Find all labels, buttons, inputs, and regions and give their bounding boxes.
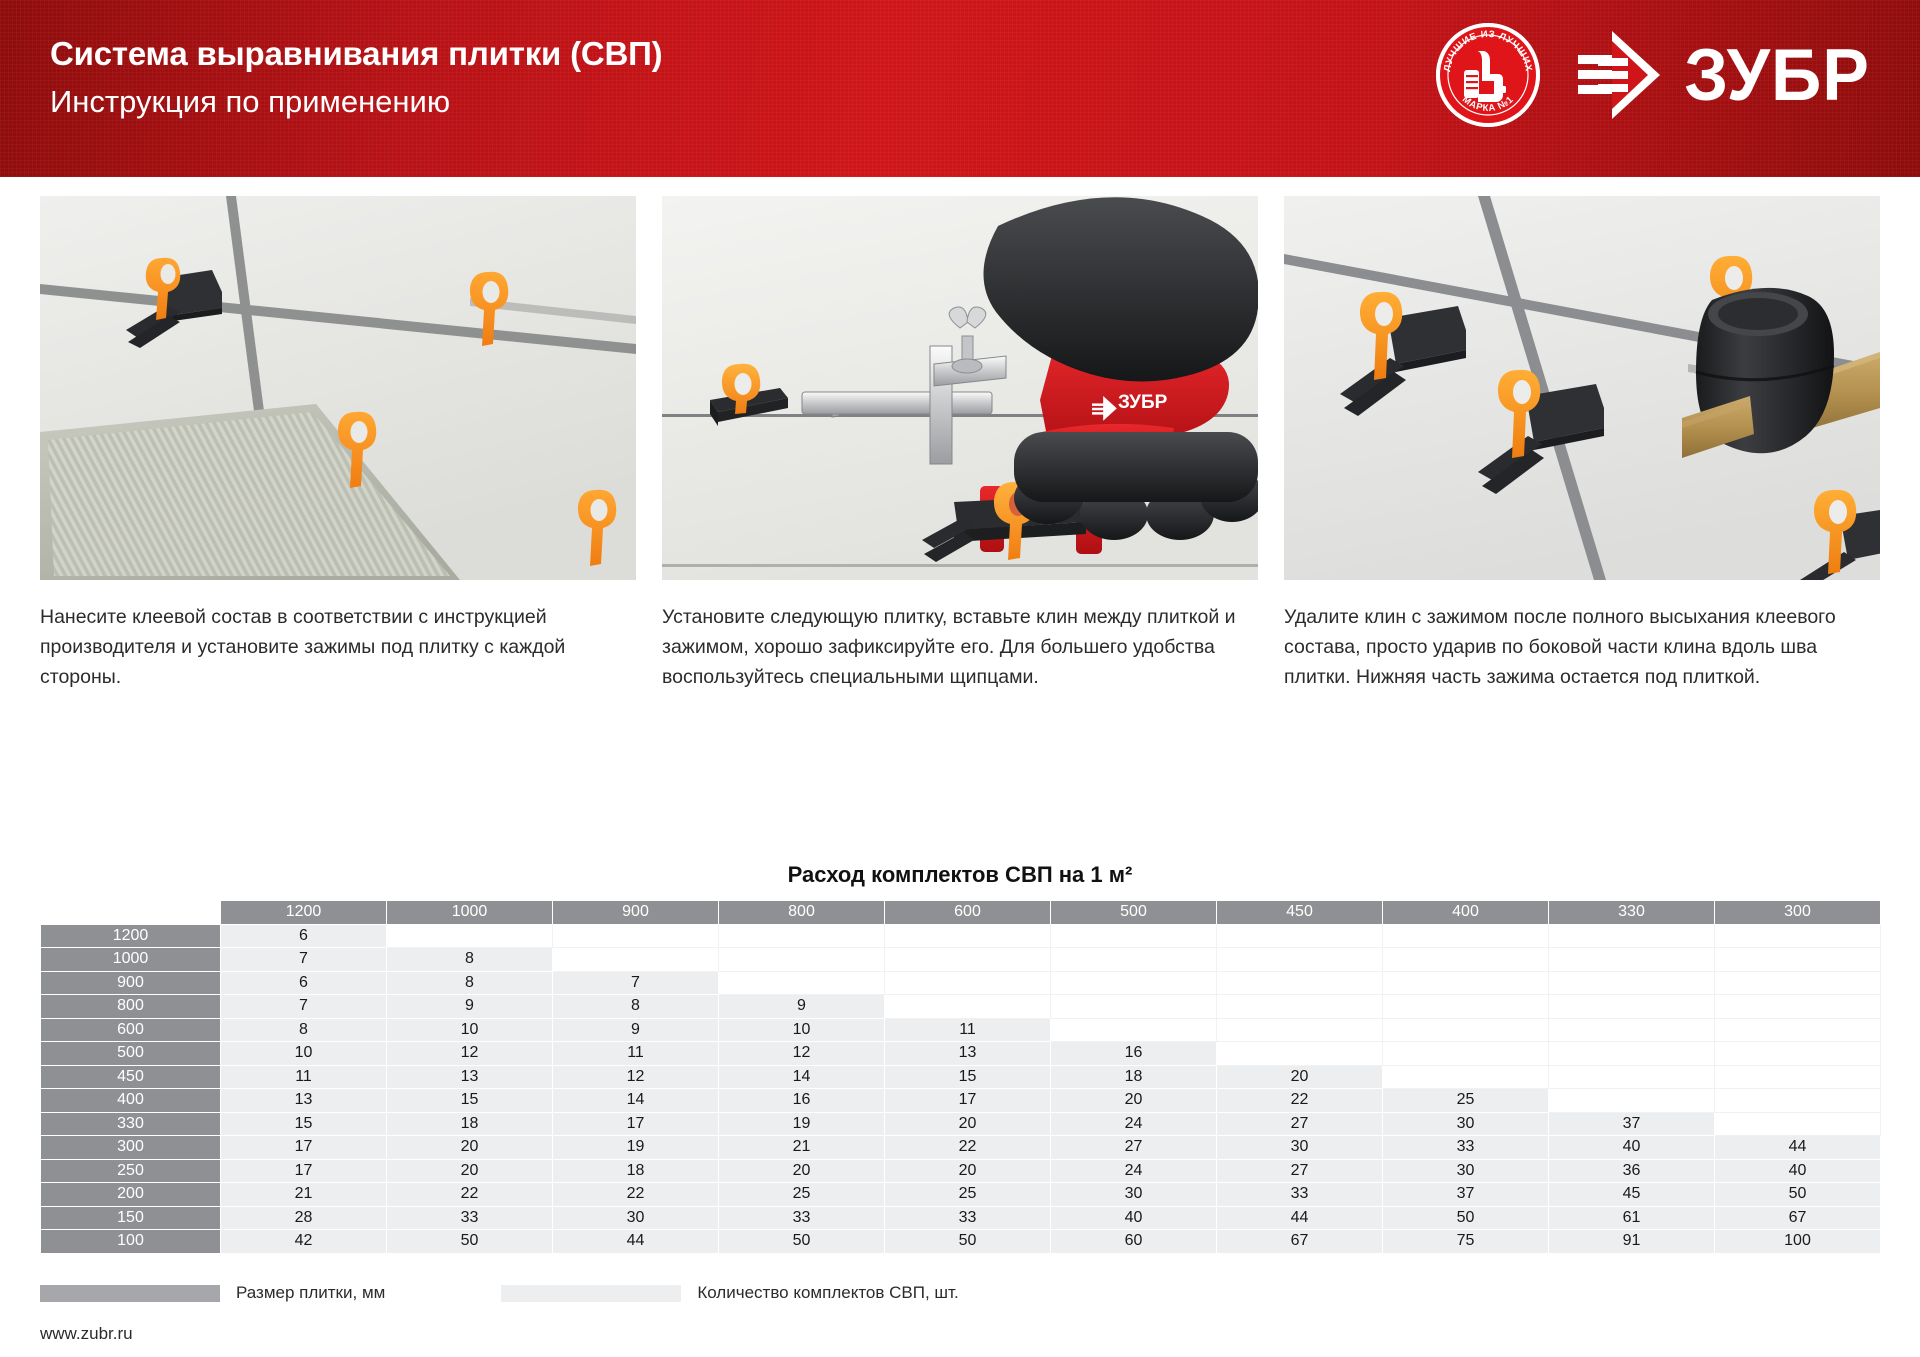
step-2-caption: Установите следующую плитку, вставьте кл… [662,602,1258,692]
table-cell-value: 9 [719,995,885,1019]
table-cell-value: 50 [1715,1183,1881,1207]
table-row: 20021222225253033374550 [41,1183,1881,1207]
table-row-header: 200 [41,1183,221,1207]
table-col-header: 900 [553,901,719,925]
table-col-header: 600 [885,901,1051,925]
table-cell-value: 28 [221,1206,387,1230]
brand-logo: ЗУБР [1578,27,1870,123]
table-row: 100078 [41,948,1881,972]
table-cell-empty [1051,924,1217,948]
table-cell-value: 18 [387,1112,553,1136]
table-cell-value: 33 [1383,1136,1549,1160]
table-cell-value: 36 [1549,1159,1715,1183]
table-cell-value: 12 [387,1042,553,1066]
table-cell-value: 27 [1217,1159,1383,1183]
table-corner-cell [41,901,221,925]
table-cell-empty [1217,1018,1383,1042]
table-cell-value: 20 [1217,1065,1383,1089]
table-cell-value: 37 [1549,1112,1715,1136]
table-cell-empty [1051,948,1217,972]
table-cell-empty [1051,971,1217,995]
page-title: Система выравнивания плитки (СВП) [50,33,662,75]
table-cell-empty [1549,971,1715,995]
table-cell-value: 9 [553,1018,719,1042]
table-row-header: 800 [41,995,221,1019]
table-cell-empty [1549,1089,1715,1113]
legend-label-count: Количество комплектов СВП, шт. [697,1283,958,1303]
legend-item-count: Количество комплектов СВП, шт. [501,1283,958,1303]
table-cell-value: 20 [719,1159,885,1183]
table-cell-value: 7 [221,995,387,1019]
table-row-header: 150 [41,1206,221,1230]
consumption-table: 12001000900800600500450400330300 1200610… [40,900,1881,1254]
table-cell-value: 50 [885,1230,1051,1254]
table-cell-value: 8 [553,995,719,1019]
legend-swatch-size [40,1285,220,1302]
table-row: 12006 [41,924,1881,948]
table-cell-value: 45 [1549,1183,1715,1207]
table-cell-value: 14 [719,1065,885,1089]
table-cell-value: 33 [1217,1183,1383,1207]
table-cell-value: 30 [1383,1159,1549,1183]
table-cell-value: 7 [221,948,387,972]
legend-label-size: Размер плитки, мм [236,1283,385,1303]
step-2-photo-svg: ЗУБР [662,196,1258,580]
step-1-caption: Нанесите клеевой состав в соответствии с… [40,602,636,692]
table-cell-value: 8 [221,1018,387,1042]
table-cell-value: 10 [719,1018,885,1042]
table-cell-value: 40 [1715,1159,1881,1183]
step-3-photo-svg [1284,196,1880,580]
table-cell-empty [1715,948,1881,972]
table-cell-value: 20 [387,1136,553,1160]
table-cell-value: 12 [719,1042,885,1066]
table-cell-empty [553,924,719,948]
table-cell-value: 21 [221,1183,387,1207]
table-cell-value: 30 [1051,1183,1217,1207]
table-cell-value: 16 [1051,1042,1217,1066]
table-cell-value: 25 [719,1183,885,1207]
table-cell-empty [1383,1018,1549,1042]
table-cell-value: 44 [553,1230,719,1254]
table-cell-value: 11 [221,1065,387,1089]
step-3-photo [1284,196,1880,580]
table-cell-value: 44 [1217,1206,1383,1230]
table-col-header: 1000 [387,901,553,925]
quality-badge: ЛУЧШИЕ ИЗ ЛУЧШИХ МАРКА №1 [1436,23,1540,127]
table-cell-value: 30 [1217,1136,1383,1160]
table-cell-empty [1217,948,1383,972]
table-cell-value: 7 [553,971,719,995]
table-cell-value: 50 [1383,1206,1549,1230]
table-cell-empty [1715,1042,1881,1066]
table-row: 8007989 [41,995,1881,1019]
table-cell-value: 20 [885,1112,1051,1136]
table-cell-value: 6 [221,971,387,995]
table-row-header: 1200 [41,924,221,948]
table-cell-value: 67 [1715,1206,1881,1230]
table-cell-empty [1051,995,1217,1019]
table-cell-value: 25 [1383,1089,1549,1113]
table-cell-empty [1051,1018,1217,1042]
table-cell-value: 15 [885,1065,1051,1089]
table-cell-empty [885,924,1051,948]
table-row: 4001315141617202225 [41,1089,1881,1113]
table-cell-value: 13 [885,1042,1051,1066]
table-cell-value: 27 [1051,1136,1217,1160]
table-cell-value: 33 [719,1206,885,1230]
table-cell-empty [387,924,553,948]
table-cell-empty [1217,995,1383,1019]
table-cell-value: 18 [1051,1065,1217,1089]
page-subtitle: Инструкция по применению [50,81,662,123]
table-cell-empty [1217,971,1383,995]
table-row: 100425044505060677591100 [41,1230,1881,1254]
table-cell-value: 22 [1217,1089,1383,1113]
table-row: 25017201820202427303640 [41,1159,1881,1183]
table-cell-value: 67 [1217,1230,1383,1254]
table-row-header: 500 [41,1042,221,1066]
table-cell-empty [719,971,885,995]
table-cell-value: 12 [553,1065,719,1089]
table-row-header: 450 [41,1065,221,1089]
table-cell-empty [1715,1089,1881,1113]
table-cell-empty [1383,971,1549,995]
table-cell-value: 16 [719,1089,885,1113]
table-cell-value: 14 [553,1089,719,1113]
table-col-header: 500 [1051,901,1217,925]
table-cell-value: 30 [553,1206,719,1230]
step-2: ЗУБР [662,196,1258,692]
table-cell-value: 10 [221,1042,387,1066]
table-row: 60081091011 [41,1018,1881,1042]
table-cell-value: 9 [387,995,553,1019]
table-col-header: 1200 [221,901,387,925]
table-cell-value: 22 [553,1183,719,1207]
table-row-header: 900 [41,971,221,995]
pliers-brand-text: ЗУБР [1118,392,1168,413]
table-cell-value: 10 [387,1018,553,1042]
table-row-header: 100 [41,1230,221,1254]
table-cell-value: 44 [1715,1136,1881,1160]
table-cell-value: 75 [1383,1230,1549,1254]
table-cell-value: 33 [387,1206,553,1230]
table-legend: Размер плитки, мм Количество комплектов … [40,1283,1240,1303]
table-cell-value: 22 [387,1183,553,1207]
table-cell-value: 60 [1051,1230,1217,1254]
step-2-photo: ЗУБР [662,196,1258,580]
table-cell-value: 17 [221,1136,387,1160]
table-cell-empty [1549,1018,1715,1042]
table-cell-value: 61 [1549,1206,1715,1230]
table-row: 15028333033334044506167 [41,1206,1881,1230]
table-cell-empty [1549,1042,1715,1066]
table-title: Расход комплектов СВП на 1 м² [40,862,1880,888]
table-cell-value: 8 [387,948,553,972]
table-cell-value: 50 [387,1230,553,1254]
table-cell-value: 15 [221,1112,387,1136]
table-cell-value: 33 [885,1206,1051,1230]
website-url: www.zubr.ru [40,1324,133,1344]
table-cell-value: 20 [1051,1089,1217,1113]
table-row-header: 330 [41,1112,221,1136]
step-3-caption: Удалите клин с зажимом после полного выс… [1284,602,1880,692]
table-cell-empty [1715,995,1881,1019]
steps-row: Нанесите клеевой состав в соответствии с… [40,196,1880,692]
table-row-header: 1000 [41,948,221,972]
table-header-row: 12001000900800600500450400330300 [41,901,1881,925]
table-cell-value: 27 [1217,1112,1383,1136]
table-cell-value: 22 [885,1136,1051,1160]
legend-item-size: Размер плитки, мм [40,1283,385,1303]
step-3: Удалите клин с зажимом после полного выс… [1284,196,1880,692]
table-cell-value: 17 [221,1159,387,1183]
table-cell-value: 15 [387,1089,553,1113]
table-row: 500101211121316 [41,1042,1881,1066]
table-cell-empty [1715,1065,1881,1089]
table-cell-value: 24 [1051,1159,1217,1183]
table-cell-value: 37 [1383,1183,1549,1207]
table-cell-value: 20 [387,1159,553,1183]
table-col-header: 800 [719,901,885,925]
table-cell-value: 50 [719,1230,885,1254]
legend-swatch-count [501,1285,681,1302]
table-cell-empty [1217,1042,1383,1066]
table-body: 1200610007890068780079896008109101150010… [41,924,1881,1253]
table-row: 900687 [41,971,1881,995]
table-cell-empty [1549,948,1715,972]
table-cell-value: 91 [1549,1230,1715,1254]
table-cell-empty [1715,1018,1881,1042]
table-cell-value: 21 [719,1136,885,1160]
table-cell-empty [885,971,1051,995]
table-col-header: 300 [1715,901,1881,925]
table-cell-value: 6 [221,924,387,948]
badge-svg: ЛУЧШИЕ ИЗ ЛУЧШИХ МАРКА №1 [1436,23,1540,127]
table-cell-value: 20 [885,1159,1051,1183]
table-row-header: 250 [41,1159,221,1183]
table-cell-value: 17 [885,1089,1051,1113]
brand-name: ЗУБР [1684,38,1870,112]
table-cell-empty [553,948,719,972]
zubr-arrow-icon [1578,27,1662,123]
logo-group: ЛУЧШИЕ ИЗ ЛУЧШИХ МАРКА №1 [1436,16,1870,134]
table-cell-value: 100 [1715,1230,1881,1254]
table-row-header: 300 [41,1136,221,1160]
table-cell-value: 42 [221,1230,387,1254]
table-cell-value: 17 [553,1112,719,1136]
table-col-header: 450 [1217,901,1383,925]
table-cell-empty [1549,1065,1715,1089]
table-row-header: 400 [41,1089,221,1113]
table-cell-value: 8 [387,971,553,995]
table-cell-value: 13 [221,1089,387,1113]
table-cell-empty [1383,1042,1549,1066]
step-1-photo-svg [40,196,636,580]
table-cell-empty [885,948,1051,972]
step-1-photo [40,196,636,580]
table-cell-value: 25 [885,1183,1051,1207]
table-cell-empty [1383,995,1549,1019]
table-cell-value: 19 [553,1136,719,1160]
step-1: Нанесите клеевой состав в соответствии с… [40,196,636,692]
table-cell-value: 40 [1549,1136,1715,1160]
table-cell-value: 18 [553,1159,719,1183]
table-cell-value: 11 [553,1042,719,1066]
table-cell-empty [1217,924,1383,948]
page-header: Система выравнивания плитки (СВП) Инстру… [0,0,1920,177]
table-cell-empty [1383,1065,1549,1089]
table-cell-empty [719,924,885,948]
consumption-table-section: Расход комплектов СВП на 1 м² 1200100090… [40,862,1880,1254]
table-cell-empty [1549,995,1715,1019]
table-cell-empty [1383,948,1549,972]
table-cell-empty [885,995,1051,1019]
table-row: 45011131214151820 [41,1065,1881,1089]
table-cell-value: 40 [1051,1206,1217,1230]
table-row: 30017201921222730334044 [41,1136,1881,1160]
table-cell-empty [1715,924,1881,948]
table-col-header: 400 [1383,901,1549,925]
table-cell-empty [1549,924,1715,948]
table-col-header: 330 [1549,901,1715,925]
table-cell-value: 13 [387,1065,553,1089]
table-row-header: 600 [41,1018,221,1042]
table-cell-value: 24 [1051,1112,1217,1136]
header-title-group: Система выравнивания плитки (СВП) Инстру… [50,33,662,123]
table-cell-empty [1383,924,1549,948]
table-cell-value: 19 [719,1112,885,1136]
table-cell-value: 30 [1383,1112,1549,1136]
table-cell-value: 11 [885,1018,1051,1042]
table-cell-empty [719,948,885,972]
table-cell-empty [1715,971,1881,995]
table-cell-empty [1715,1112,1881,1136]
table-row: 330151817192024273037 [41,1112,1881,1136]
